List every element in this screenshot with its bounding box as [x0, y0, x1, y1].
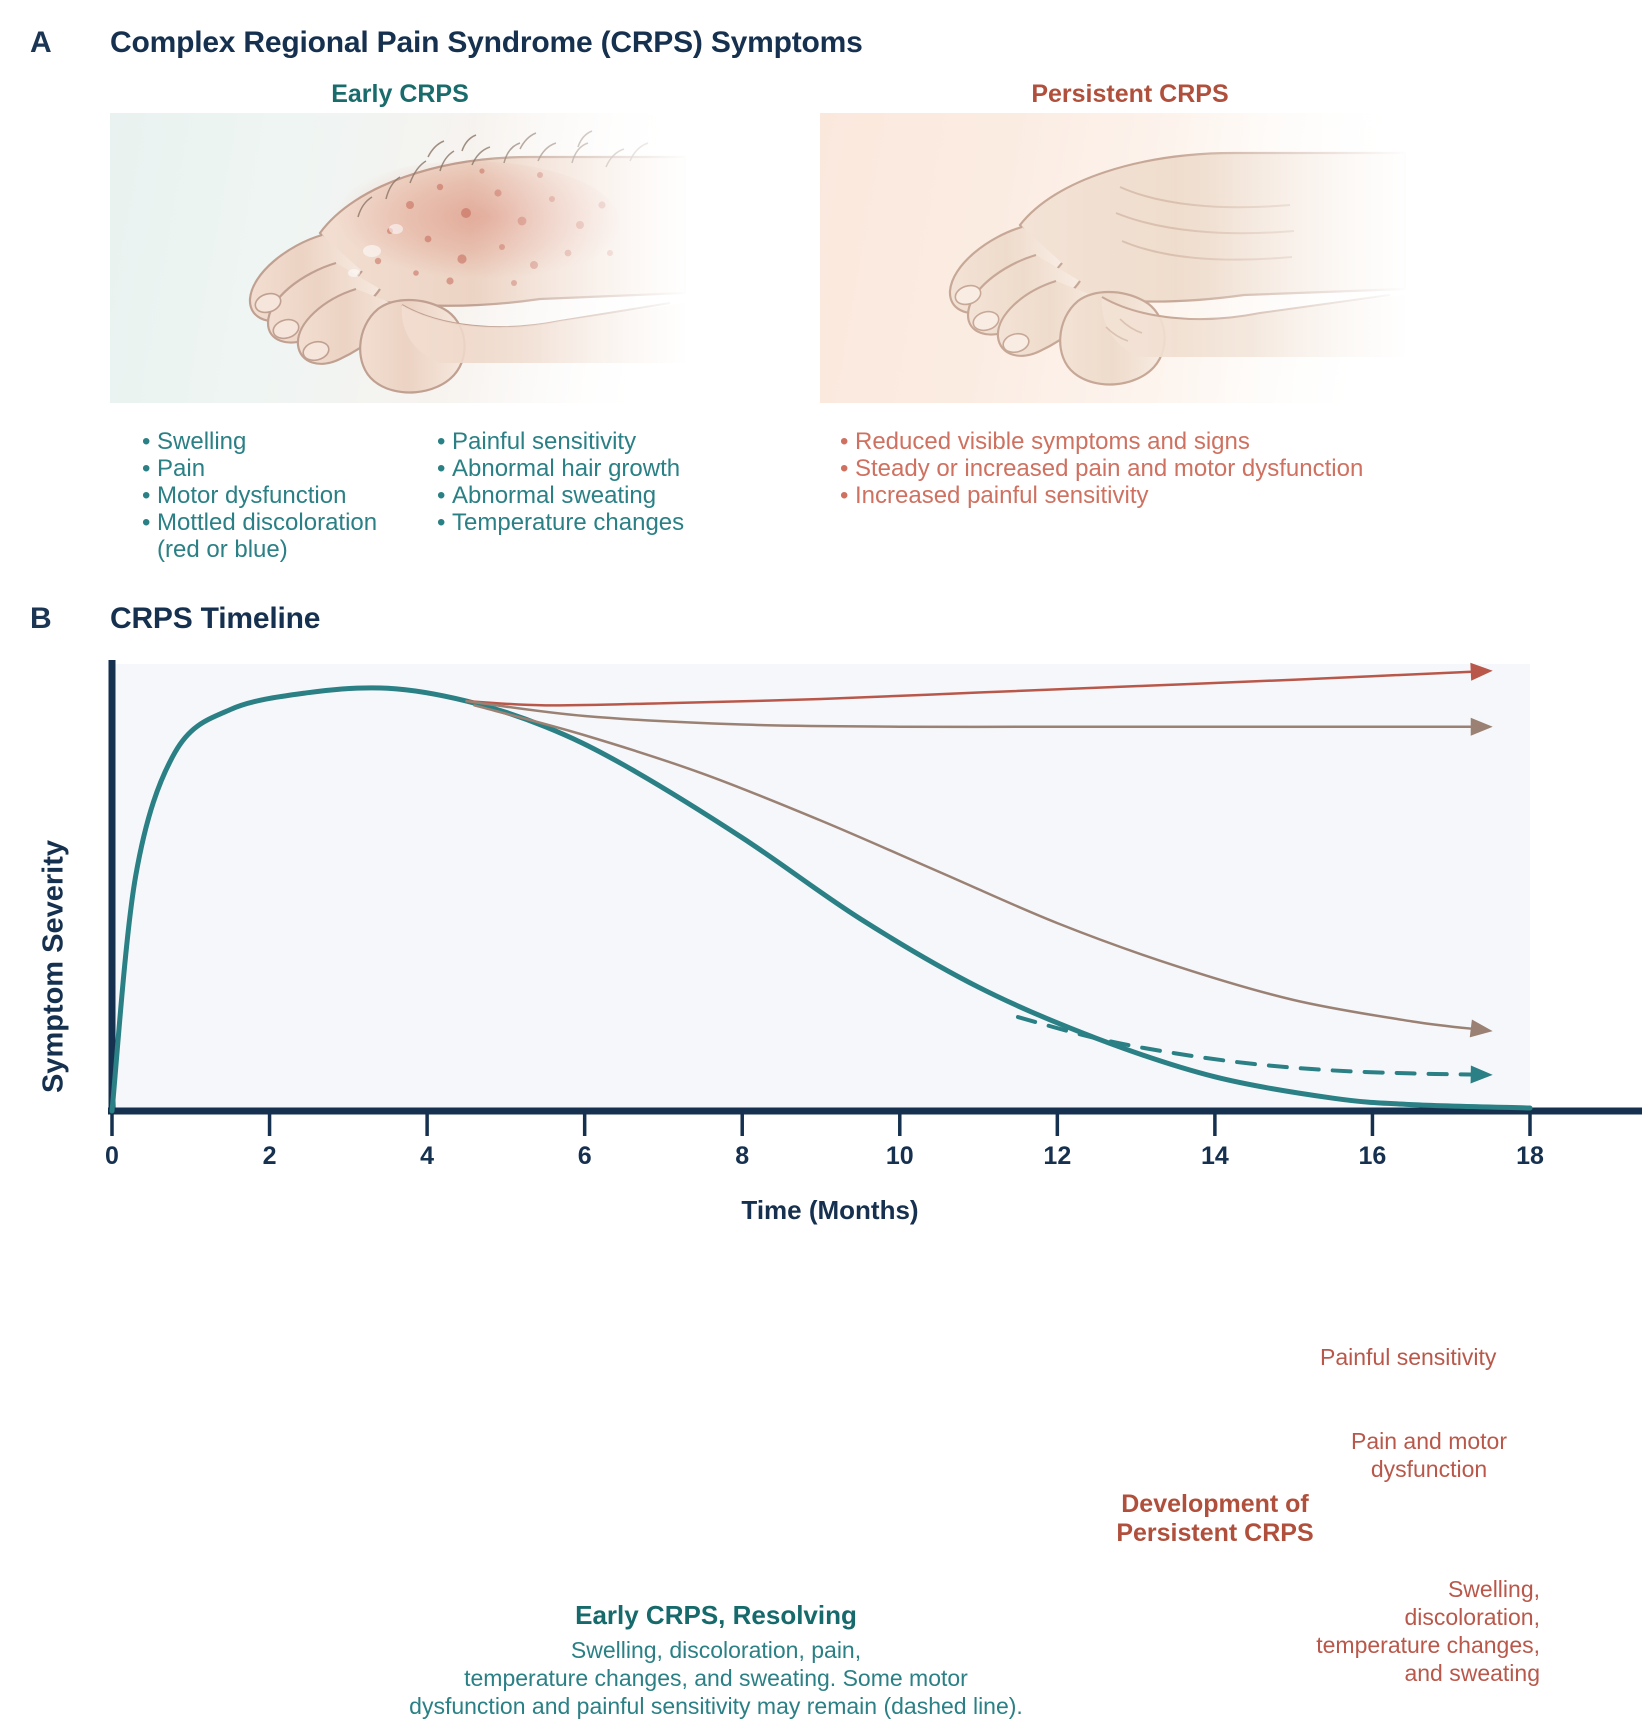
bullet-icon: •	[840, 455, 855, 482]
annotation-line: Swelling,	[1290, 1575, 1540, 1603]
annotation-development-persistent-crps: Development of Persistent CRPS	[1090, 1490, 1340, 1548]
persistent-hand-drawing	[820, 113, 1410, 403]
list-item-label: Mottled discoloration	[157, 509, 377, 536]
bullet-icon: •	[437, 428, 452, 455]
list-item-label: Pain	[157, 455, 205, 482]
x-tick-label: 4	[397, 1142, 457, 1171]
chart-canvas	[0, 650, 1642, 1286]
x-tick-label: 6	[555, 1142, 615, 1171]
early-crps-bullet-list-col2: •Painful sensitivity •Abnormal hair grow…	[437, 428, 684, 536]
bullet-icon: •	[840, 428, 855, 455]
y-axis-label: Symptom Severity	[38, 817, 71, 1117]
annotation-line: temperature changes,	[1290, 1631, 1540, 1659]
list-item: •Abnormal sweating	[437, 482, 684, 509]
early-hand-drawing	[110, 113, 690, 403]
x-tick-label: 14	[1185, 1142, 1245, 1171]
bullet-icon: •	[437, 455, 452, 482]
list-item: •Increased painful sensitivity	[840, 482, 1363, 509]
list-item: •Motor dysfunction	[142, 482, 377, 509]
list-item: •Mottled discoloration	[142, 509, 377, 536]
list-item-label: Motor dysfunction	[157, 482, 346, 509]
x-tick-label: 18	[1500, 1142, 1560, 1171]
list-item: •Steady or increased pain and motor dysf…	[840, 455, 1363, 482]
x-tick-label: 10	[870, 1142, 930, 1171]
annotation-line: and sweating	[1290, 1659, 1540, 1687]
x-axis-ticks	[112, 1114, 1530, 1136]
bullet-icon: •	[142, 509, 157, 536]
x-tick-label: 8	[712, 1142, 772, 1171]
list-item-label: Abnormal hair growth	[452, 455, 680, 482]
list-item-label: Increased painful sensitivity	[855, 482, 1148, 509]
annotation-description: Swelling, discoloration, pain, temperatu…	[366, 1636, 1066, 1720]
list-item: •Swelling	[142, 428, 377, 455]
panel-a-title: Complex Regional Pain Syndrome (CRPS) Sy…	[110, 26, 863, 60]
early-crps-heading: Early CRPS	[110, 80, 690, 109]
x-tick-label: 16	[1342, 1142, 1402, 1171]
persistent-crps-bullet-list: •Reduced visible symptoms and signs •Ste…	[840, 428, 1363, 509]
annotation-early-crps-resolving: Early CRPS, Resolving Swelling, discolor…	[366, 1600, 1066, 1720]
annotation-painful-sensitivity: Painful sensitivity	[1320, 1344, 1496, 1371]
crps-timeline-chart: Symptom Severity Time (Months) 024681012…	[0, 650, 1642, 1286]
annotation-line: temperature changes, and sweating. Some …	[366, 1664, 1066, 1692]
bullet-icon: •	[437, 509, 452, 536]
list-item-label: Swelling	[157, 428, 246, 455]
plot-background	[112, 664, 1530, 1112]
list-item: •Painful sensitivity	[437, 428, 684, 455]
list-item: •Pain	[142, 455, 377, 482]
annotation-line: Persistent CRPS	[1090, 1519, 1340, 1548]
x-tick-label: 0	[82, 1142, 142, 1171]
panel-a-letter: A	[30, 26, 52, 60]
annotation-title: Early CRPS, Resolving	[366, 1600, 1066, 1631]
bullet-icon: •	[437, 482, 452, 509]
early-crps-hand-illustration	[110, 113, 690, 403]
panel-b-letter: B	[30, 602, 52, 636]
annotation-line: Swelling, discoloration, pain,	[366, 1636, 1066, 1664]
list-item-continuation: (red or blue)	[142, 536, 377, 563]
annotation-line: dysfunction	[1324, 1456, 1534, 1484]
list-item-label: Steady or increased pain and motor dysfu…	[855, 455, 1363, 482]
annotation-swelling-discoloration: Swelling, discoloration, temperature cha…	[1290, 1575, 1540, 1687]
early-crps-bullet-list-col1: •Swelling •Pain •Motor dysfunction •Mott…	[142, 428, 377, 564]
bullet-icon: •	[840, 482, 855, 509]
list-item-label: Painful sensitivity	[452, 428, 636, 455]
persistent-crps-hand-illustration	[820, 113, 1410, 403]
list-item: •Temperature changes	[437, 509, 684, 536]
list-item-label: Temperature changes	[452, 509, 684, 536]
panel-b-title: CRPS Timeline	[110, 602, 320, 636]
x-axis-label: Time (Months)	[430, 1195, 1230, 1226]
annotation-pain-and-motor-dysfunction: Pain and motor dysfunction	[1324, 1428, 1534, 1483]
annotation-line: dysfunction and painful sensitivity may …	[366, 1692, 1066, 1720]
x-tick-label: 2	[240, 1142, 300, 1171]
persistent-crps-heading: Persistent CRPS	[820, 80, 1440, 109]
bullet-icon: •	[142, 428, 157, 455]
list-item: •Reduced visible symptoms and signs	[840, 428, 1363, 455]
annotation-line: Development of	[1090, 1490, 1340, 1519]
bullet-icon: •	[142, 482, 157, 509]
bullet-icon: •	[142, 455, 157, 482]
annotation-line: discoloration,	[1290, 1603, 1540, 1631]
annotation-line: Pain and motor	[1324, 1428, 1534, 1456]
list-item-label: Reduced visible symptoms and signs	[855, 428, 1250, 455]
x-tick-label: 12	[1027, 1142, 1087, 1171]
list-item: •Abnormal hair growth	[437, 455, 684, 482]
list-item-label: Abnormal sweating	[452, 482, 656, 509]
